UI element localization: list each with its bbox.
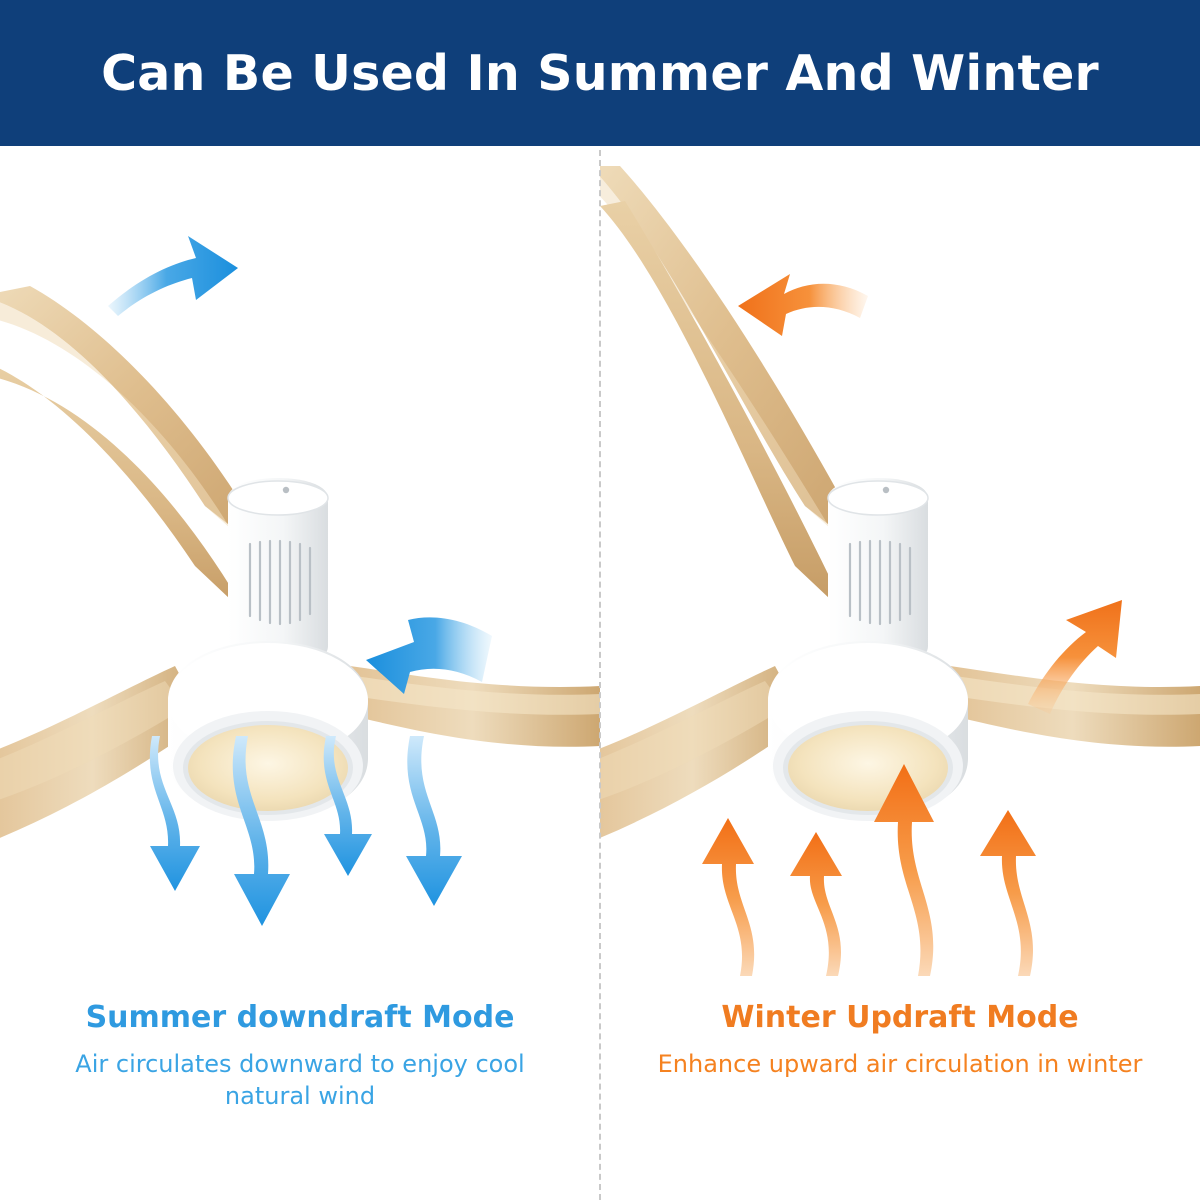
vent-slots [850,541,910,624]
caption-winter: Winter Updraft Mode Enhance upward air c… [600,1001,1200,1080]
caption-sub-winter: Enhance upward air circulation in winter [600,1048,1200,1080]
fan-motor-housing [828,478,928,668]
panel-winter: Winter Updraft Mode Enhance upward air c… [600,146,1200,1200]
vent-slots [250,541,310,624]
page-title: Can Be Used In Summer And Winter [101,45,1099,102]
panel-summer: Summer downdraft Mode Air circulates dow… [0,146,600,1200]
caption-title-winter: Winter Updraft Mode [600,1001,1200,1034]
airflow-arrows-summer [0,726,600,986]
caption-title-summer: Summer downdraft Mode [0,1001,600,1034]
fan-motor-housing [228,478,328,668]
caption-sub-summer: Air circulates downward to enjoy cool na… [0,1048,600,1113]
airflow-arrows-winter [600,726,1200,986]
header-banner: Can Be Used In Summer And Winter [0,0,1200,146]
caption-summer: Summer downdraft Mode Air circulates dow… [0,1001,600,1113]
panel-divider [599,150,601,1200]
product-infographic: Can Be Used In Summer And Winter [0,0,1200,1200]
